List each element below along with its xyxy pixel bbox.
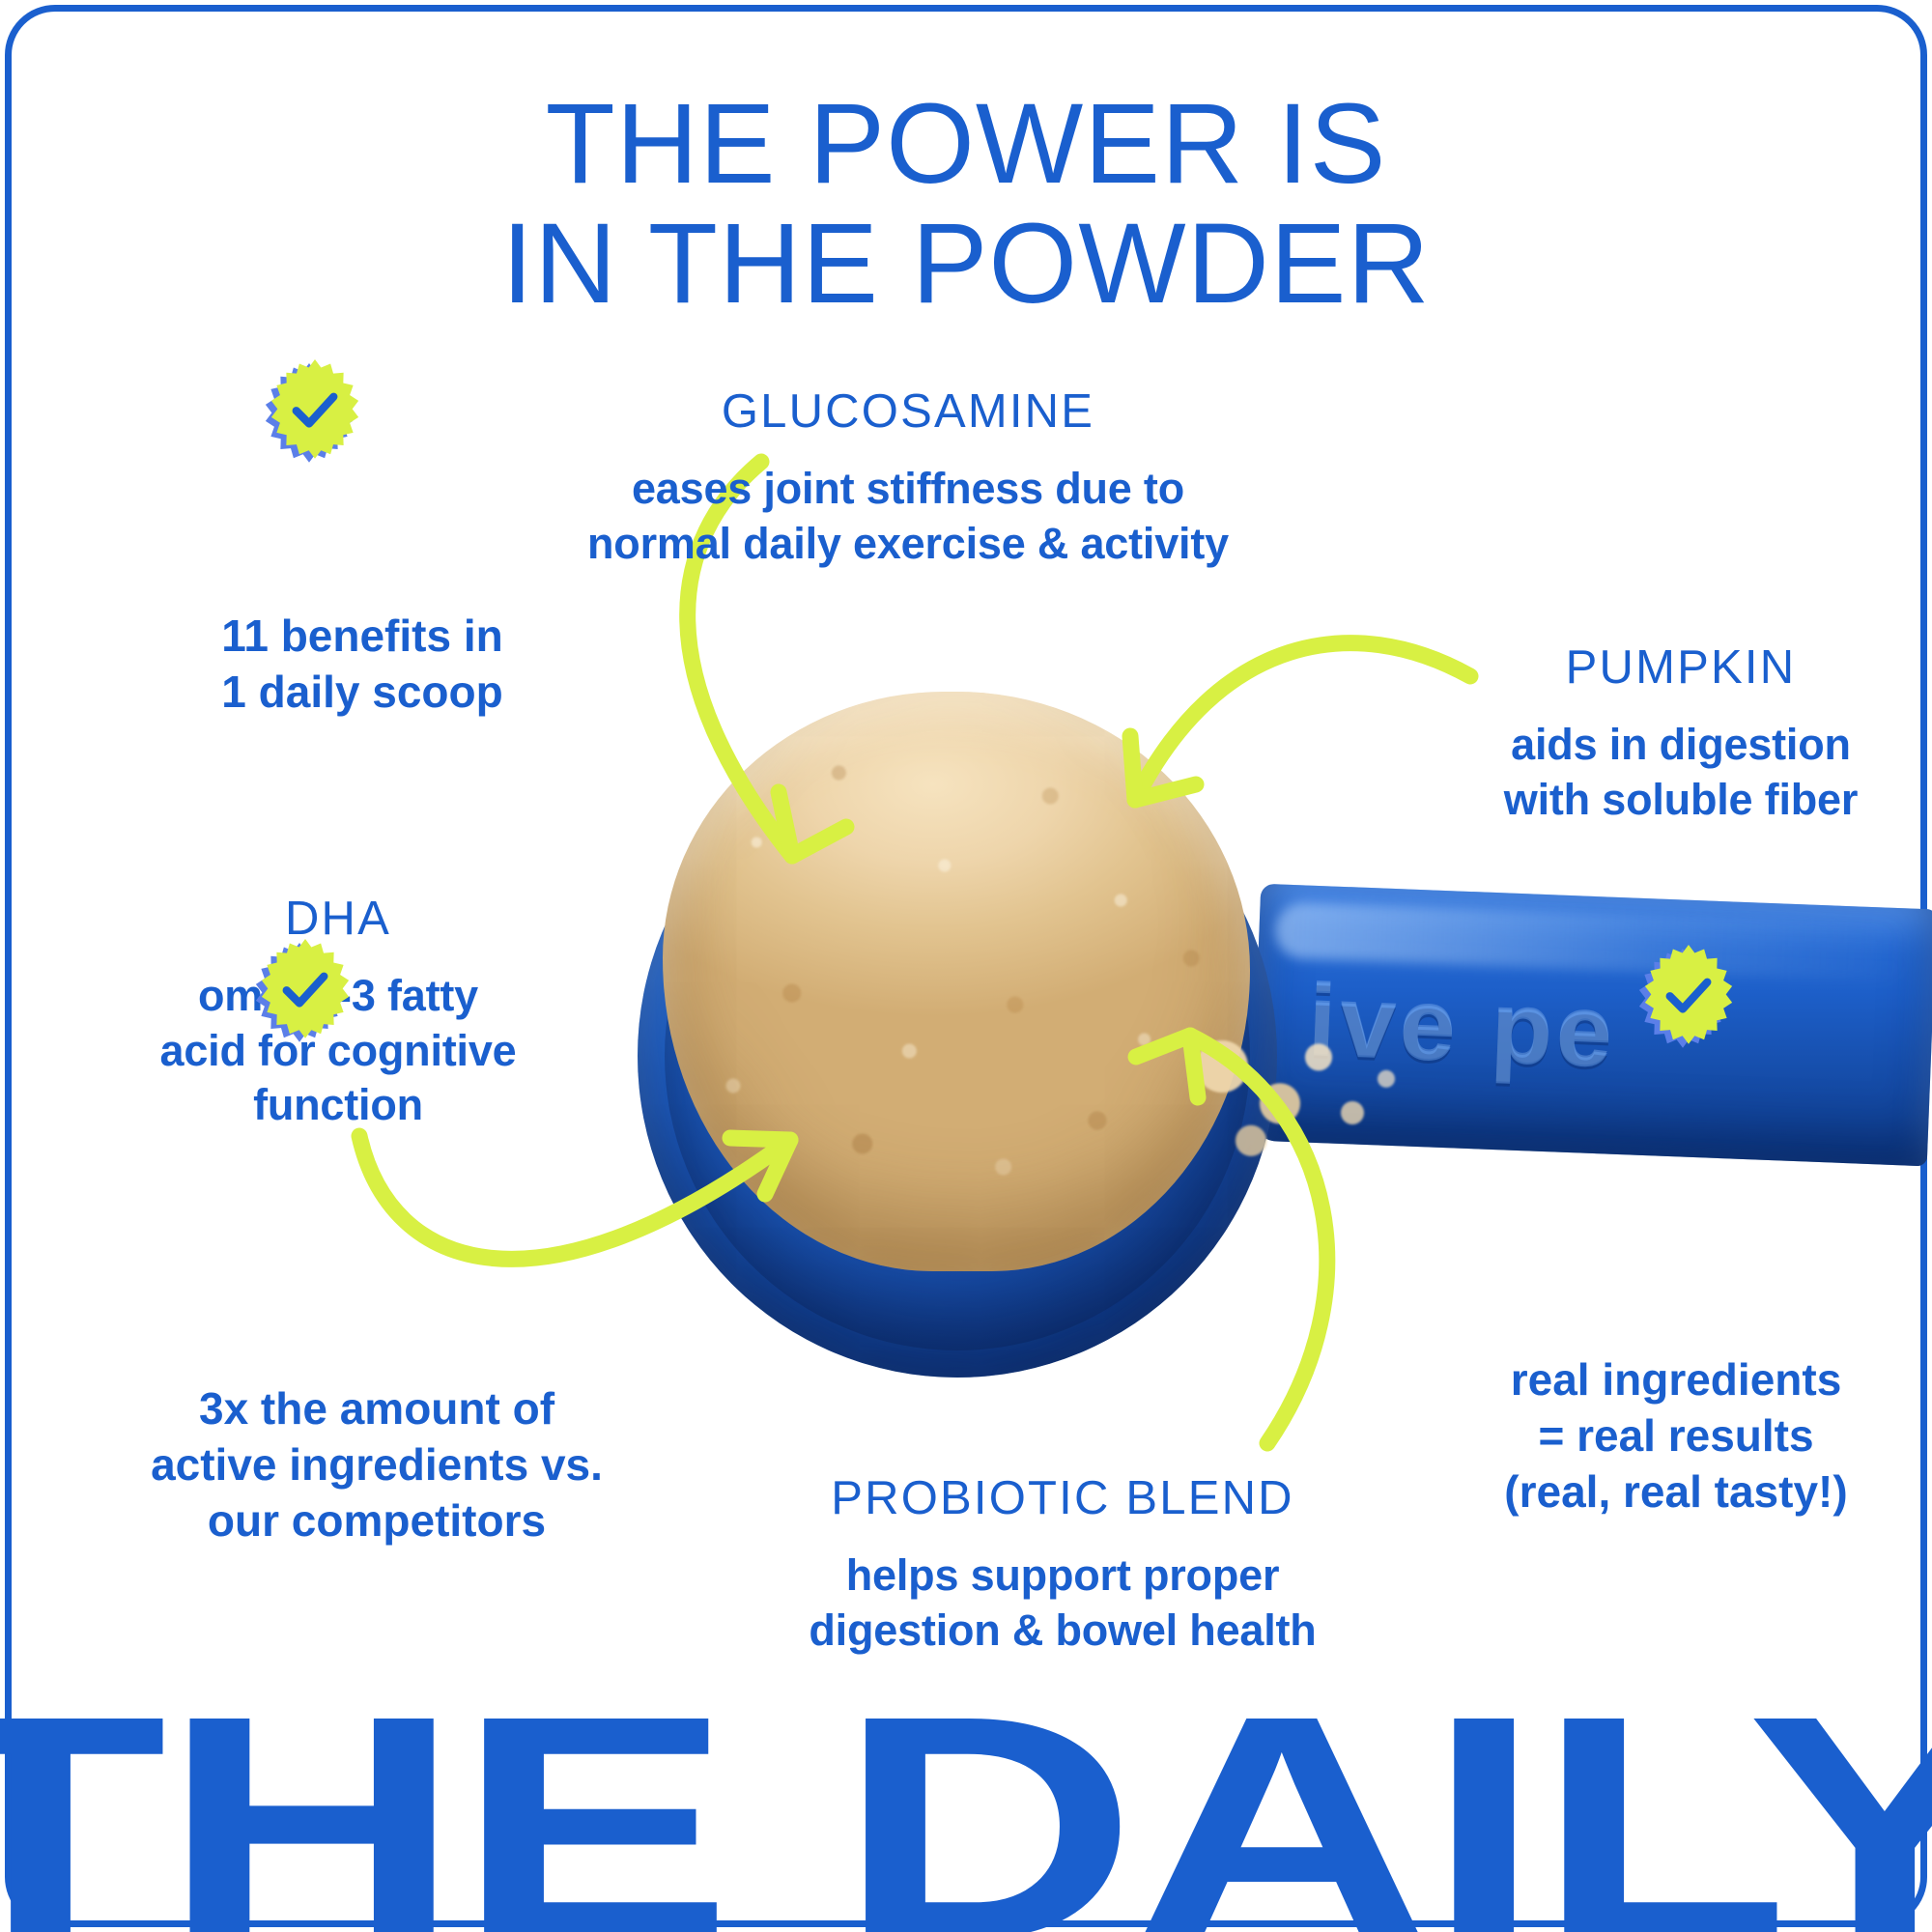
check-icon — [265, 359, 365, 460]
callout-probiotic-blend: PROBIOTIC BLEND helps support proper dig… — [734, 1473, 1391, 1658]
powder-spill — [1179, 1005, 1420, 1159]
claim-benefits: 11 benefits in 1 daily scoop — [155, 609, 570, 721]
callout-pumpkin-title: PUMPKIN — [1430, 642, 1932, 695]
page-title: THE POWER IS IN THE POWDER — [0, 85, 1932, 325]
callout-probiotic-blend-title: PROBIOTIC BLEND — [734, 1473, 1391, 1525]
powder-mound — [663, 692, 1250, 1271]
callout-pumpkin-body: aids in digestion with soluble fiber — [1430, 718, 1932, 827]
callout-glucosamine: GLUCOSAMINE eases joint stiffness due to… — [541, 386, 1275, 571]
claim-active-ingredients-text: 3x the amount of active ingredients vs. … — [126, 1381, 628, 1549]
check-badge-icon — [249, 939, 355, 1045]
check-icon — [255, 939, 355, 1039]
callout-pumpkin: PUMPKIN aids in digestion with soluble f… — [1430, 642, 1932, 827]
check-icon — [1638, 945, 1739, 1045]
check-badge-icon — [259, 359, 365, 466]
claim-real-ingredients: real ingredients = real results (real, r… — [1439, 1352, 1913, 1520]
infographic-card: THE POWER IS IN THE POWDER ive pe — [0, 0, 1932, 1932]
claim-real-ingredients-text: real ingredients = real results (real, r… — [1439, 1352, 1913, 1520]
callout-dha-title: DHA — [126, 894, 551, 946]
claim-benefits-text: 11 benefits in 1 daily scoop — [155, 609, 570, 721]
brand-wordmark: THE DAILY — [0, 1681, 1932, 1932]
callout-probiotic-blend-body: helps support proper digestion & bowel h… — [734, 1548, 1391, 1658]
claim-active-ingredients: 3x the amount of active ingredients vs. … — [126, 1381, 628, 1549]
callout-glucosamine-title: GLUCOSAMINE — [541, 386, 1275, 439]
callout-glucosamine-body: eases joint stiffness due to normal dail… — [541, 462, 1275, 571]
check-badge-icon — [1633, 945, 1739, 1051]
